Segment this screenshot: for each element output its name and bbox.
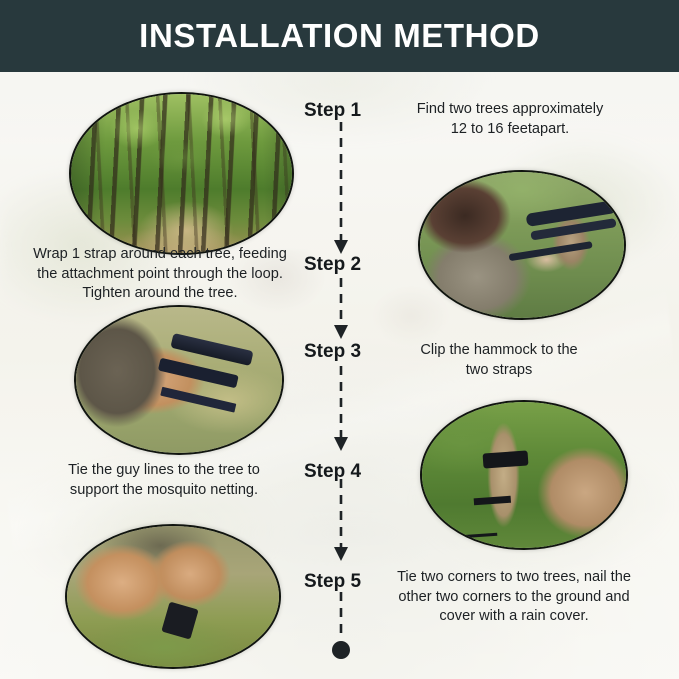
step-caption-2: Wrap 1 strap around each tree, feeding t… xyxy=(15,245,305,304)
carabiner-clip-photo xyxy=(74,305,284,455)
step-description-5: Tie two corners to two trees, nail the o… xyxy=(381,568,647,627)
step-caption-4: Tie the guy lines to the tree to support… xyxy=(30,461,298,500)
step-5-line-3: cover with a rain cover. xyxy=(381,607,647,627)
step-1-line-2: 12 to 16 feetapart. xyxy=(386,120,634,140)
guy-lines-tree-image xyxy=(422,402,626,548)
step-4-line-1: Tie the guy lines to the tree to xyxy=(30,461,298,481)
guy-lines-tree-photo xyxy=(420,400,628,550)
installation-method-poster: INSTALLATION METHOD Step 1 Find two tree… xyxy=(0,0,679,679)
step-5-line-2: other two corners to the ground and xyxy=(381,588,647,608)
step-label-5: Step 5 xyxy=(304,571,361,593)
step-label-2: Step 2 xyxy=(304,254,361,276)
timeline-end-dot xyxy=(332,641,350,659)
step-2-line-2: the attachment point through the loop. xyxy=(15,265,305,285)
step-description-1: Find two trees approximately 12 to 16 fe… xyxy=(386,100,634,139)
step-description-3: Clip the hammock to the two straps xyxy=(386,341,612,380)
forest-trail-image xyxy=(71,94,292,253)
step-3-line-1: Clip the hammock to the xyxy=(386,341,612,361)
strap-around-tree-photo xyxy=(418,170,626,320)
step-label-1: Step 1 xyxy=(304,100,361,122)
step-2-line-3: Tighten around the tree. xyxy=(15,284,305,304)
step-2-line-1: Wrap 1 strap around each tree, feeding xyxy=(15,245,305,265)
carabiner-clip-image xyxy=(76,307,282,453)
page-title: INSTALLATION METHOD xyxy=(139,17,540,55)
ground-stake-photo xyxy=(65,524,281,669)
header-bar: INSTALLATION METHOD xyxy=(0,0,679,72)
step-3-line-2: two straps xyxy=(386,361,612,381)
forest-trail-photo xyxy=(69,92,294,255)
step-4-line-2: support the mosquito netting. xyxy=(30,481,298,501)
step-label-4: Step 4 xyxy=(304,461,361,483)
strap-around-tree-image xyxy=(420,172,624,318)
step-1-line-1: Find two trees approximately xyxy=(386,100,634,120)
step-5-line-1: Tie two corners to two trees, nail the xyxy=(381,568,647,588)
step-label-3: Step 3 xyxy=(304,341,361,363)
ground-stake-image xyxy=(67,526,279,667)
